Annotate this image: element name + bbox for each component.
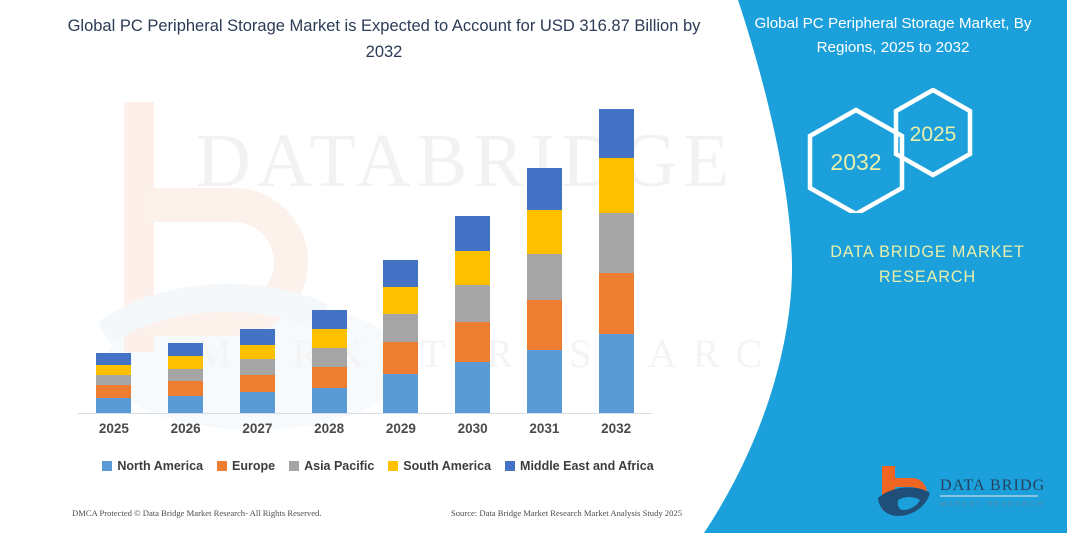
bar-segment[interactable] (240, 375, 275, 392)
stacked-bar[interactable] (240, 328, 275, 413)
stacked-bar[interactable] (168, 343, 203, 413)
bar-slot (365, 96, 437, 413)
legend-color-swatch (102, 461, 112, 471)
brand-name-line-1: DATA BRIDGE MARKET (800, 240, 1055, 265)
stacked-bar[interactable] (527, 168, 562, 413)
x-axis-labels: 20252026202720282029203020312032 (78, 421, 652, 443)
x-axis-line (78, 413, 652, 414)
bar-slot (437, 96, 509, 413)
side-panel: Global PC Peripheral Storage Market, By … (660, 0, 1067, 533)
legend-item[interactable]: Middle East and Africa (505, 459, 654, 473)
bar-segment[interactable] (312, 329, 347, 347)
stacked-bar[interactable] (96, 353, 131, 413)
data-bridge-logo-icon: DATA BRIDGE MARKET RESEARCH (876, 462, 1044, 520)
bar-segment[interactable] (312, 348, 347, 367)
legend-label: Middle East and Africa (520, 459, 654, 473)
legend-label: Asia Pacific (304, 459, 374, 473)
bar-segment[interactable] (527, 350, 562, 413)
logo-subtitle: MARKET RESEARCH (940, 501, 1044, 508)
bar-segment[interactable] (599, 273, 634, 334)
bar-segment[interactable] (312, 367, 347, 388)
bar-segment[interactable] (96, 385, 131, 397)
stacked-bar[interactable] (312, 310, 347, 413)
bar-segment[interactable] (455, 322, 490, 362)
legend-label: South America (403, 459, 491, 473)
bar-segment[interactable] (168, 396, 203, 413)
x-axis-tick-label: 2028 (293, 421, 365, 443)
x-axis-tick-label: 2025 (78, 421, 150, 443)
x-axis-tick-label: 2032 (580, 421, 652, 443)
x-axis-tick-label: 2030 (437, 421, 509, 443)
bar-segment[interactable] (168, 381, 203, 395)
bar-segment[interactable] (168, 369, 203, 381)
hexagon-2025-label: 2025 (910, 123, 957, 146)
bar-segment[interactable] (96, 365, 131, 375)
legend-label: North America (117, 459, 203, 473)
bar-segment[interactable] (455, 216, 490, 251)
bar-slot (509, 96, 581, 413)
bar-slot (580, 96, 652, 413)
x-axis-tick-label: 2029 (365, 421, 437, 443)
logo-title: DATA BRIDGE (940, 477, 1044, 494)
stacked-bar[interactable] (455, 216, 490, 413)
chart-panel: DATABRIDGE MARKET RESEARCH Global PC Per… (0, 0, 760, 533)
bar-segment[interactable] (312, 310, 347, 329)
side-panel-content: Global PC Peripheral Storage Market, By … (660, 0, 1067, 533)
legend-item[interactable]: Europe (217, 459, 275, 473)
bar-segment[interactable] (527, 300, 562, 350)
bar-segment[interactable] (527, 254, 562, 300)
bar-segment[interactable] (240, 345, 275, 359)
legend-color-swatch (505, 461, 515, 471)
bar-segment[interactable] (240, 392, 275, 413)
bar-segment[interactable] (96, 353, 131, 365)
chart-title: Global PC Peripheral Storage Market is E… (62, 14, 706, 65)
stacked-bar[interactable] (383, 260, 418, 413)
x-axis-tick-label: 2026 (150, 421, 222, 443)
x-axis-tick-label: 2031 (509, 421, 581, 443)
bar-segment[interactable] (168, 356, 203, 368)
bar-segment[interactable] (168, 343, 203, 356)
bar-segment[interactable] (383, 287, 418, 314)
bar-segment[interactable] (240, 359, 275, 374)
bar-segment[interactable] (96, 398, 131, 413)
bar-group (78, 96, 652, 413)
bar-segment[interactable] (599, 109, 634, 158)
stacked-bar[interactable] (599, 109, 634, 414)
bar-segment[interactable] (383, 374, 418, 413)
bar-segment[interactable] (240, 329, 275, 345)
bar-slot (222, 96, 294, 413)
legend-color-swatch (388, 461, 398, 471)
legend-label: Europe (232, 459, 275, 473)
bar-segment[interactable] (527, 168, 562, 210)
bar-segment[interactable] (527, 210, 562, 253)
legend-item[interactable]: North America (102, 459, 203, 473)
hexagon-2032-label: 2032 (830, 149, 881, 175)
brand-name-line-2: RESEARCH (800, 265, 1055, 290)
bar-segment[interactable] (455, 251, 490, 286)
footer-source: Source: Data Bridge Market Research Mark… (451, 508, 682, 524)
chart-legend: North AmericaEuropeAsia PacificSouth Ame… (78, 456, 678, 476)
plot-area (78, 96, 652, 414)
legend-item[interactable]: Asia Pacific (289, 459, 374, 473)
x-axis-tick-label: 2027 (222, 421, 294, 443)
bar-segment[interactable] (312, 388, 347, 413)
bar-slot (150, 96, 222, 413)
footer-copyright: DMCA Protected © Data Bridge Market Rese… (72, 508, 322, 524)
bar-segment[interactable] (599, 334, 634, 413)
bar-segment[interactable] (599, 213, 634, 273)
side-panel-title: Global PC Peripheral Storage Market, By … (732, 12, 1054, 59)
bar-segment[interactable] (383, 314, 418, 342)
bar-segment[interactable] (599, 158, 634, 214)
bar-slot (293, 96, 365, 413)
data-bridge-logo: DATA BRIDGE MARKET RESEARCH (876, 462, 1044, 520)
bar-slot (78, 96, 150, 413)
hexagon-group: 2032 2025 (790, 88, 1065, 213)
legend-color-swatch (217, 461, 227, 471)
bar-segment[interactable] (96, 375, 131, 386)
footer: DMCA Protected © Data Bridge Market Rese… (72, 508, 682, 524)
bar-segment[interactable] (383, 342, 418, 374)
bar-segment[interactable] (455, 362, 490, 413)
infographic-page: DATABRIDGE MARKET RESEARCH Global PC Per… (0, 0, 1067, 533)
brand-name: DATA BRIDGE MARKET RESEARCH (800, 240, 1055, 290)
bar-segment[interactable] (383, 260, 418, 287)
bar-segment[interactable] (455, 285, 490, 322)
legend-item[interactable]: South America (388, 459, 491, 473)
legend-color-swatch (289, 461, 299, 471)
